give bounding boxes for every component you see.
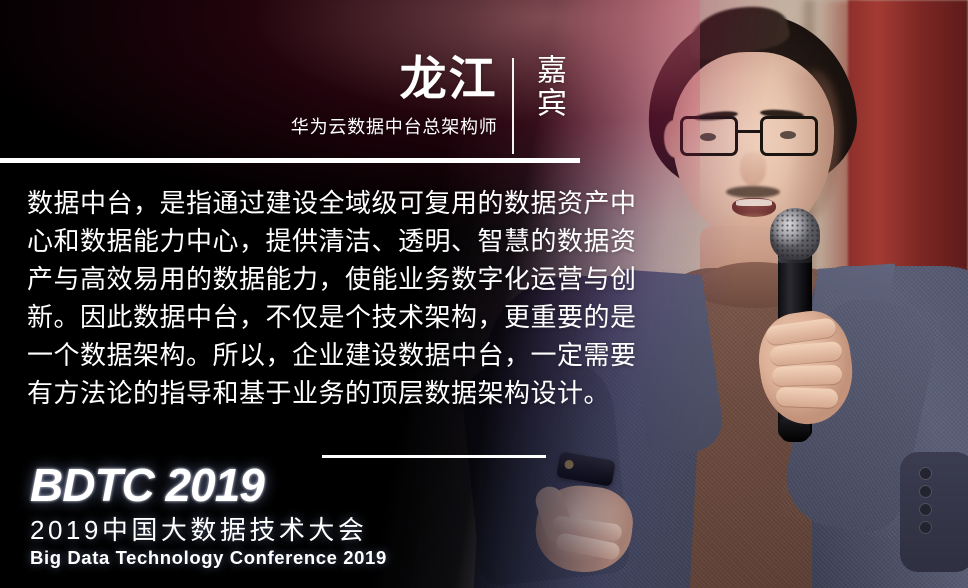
quote-line: 产与高效易用的数据能力，使能业务数字化运营与创 bbox=[27, 260, 579, 298]
quote-line: 有方法论的指导和基于业务的顶层数据架构设计。 bbox=[27, 374, 579, 412]
content-layer: 龙江 华为云数据中台总架构师 嘉宾 数据中台，是指通过建设全域级可复用的数据资产… bbox=[0, 0, 968, 588]
guest-badge: 嘉宾 bbox=[526, 54, 570, 120]
quote-line: 新。因此数据中台，不仅是个技术架构，更重要的是 bbox=[27, 298, 579, 336]
logo-chinese-name: 2019中国大数据技术大会 bbox=[30, 516, 387, 546]
quote-text: 数据中台，是指通过建设全域级可复用的数据资产中 心和数据能力中心，提供清洁、透明… bbox=[27, 184, 579, 412]
conference-logo: BDTC 2019 2019中国大数据技术大会 Big Data Technol… bbox=[30, 462, 387, 569]
speaker-header: 龙江 华为云数据中台总架构师 嘉宾 bbox=[291, 54, 570, 154]
vertical-divider bbox=[512, 58, 514, 154]
speaker-name: 龙江 bbox=[400, 54, 498, 104]
speaker-identity: 龙江 华为云数据中台总架构师 bbox=[291, 54, 498, 139]
quote-line: 数据中台，是指通过建设全域级可复用的数据资产中 bbox=[27, 184, 579, 222]
quote-divider-rule bbox=[322, 455, 546, 458]
logo-wordmark: BDTC 2019 bbox=[30, 462, 387, 508]
quote-line: 一个数据架构。所以，企业建设数据中台，一定需要 bbox=[27, 336, 579, 374]
header-divider-rule bbox=[0, 158, 580, 163]
speaker-title: 华为云数据中台总架构师 bbox=[291, 113, 498, 139]
speaker-quote-card: 龙江 华为云数据中台总架构师 嘉宾 数据中台，是指通过建设全域级可复用的数据资产… bbox=[0, 0, 968, 588]
logo-english-name: Big Data Technology Conference 2019 bbox=[30, 547, 387, 569]
quote-line: 心和数据能力中心，提供清洁、透明、智慧的数据资 bbox=[27, 222, 579, 260]
